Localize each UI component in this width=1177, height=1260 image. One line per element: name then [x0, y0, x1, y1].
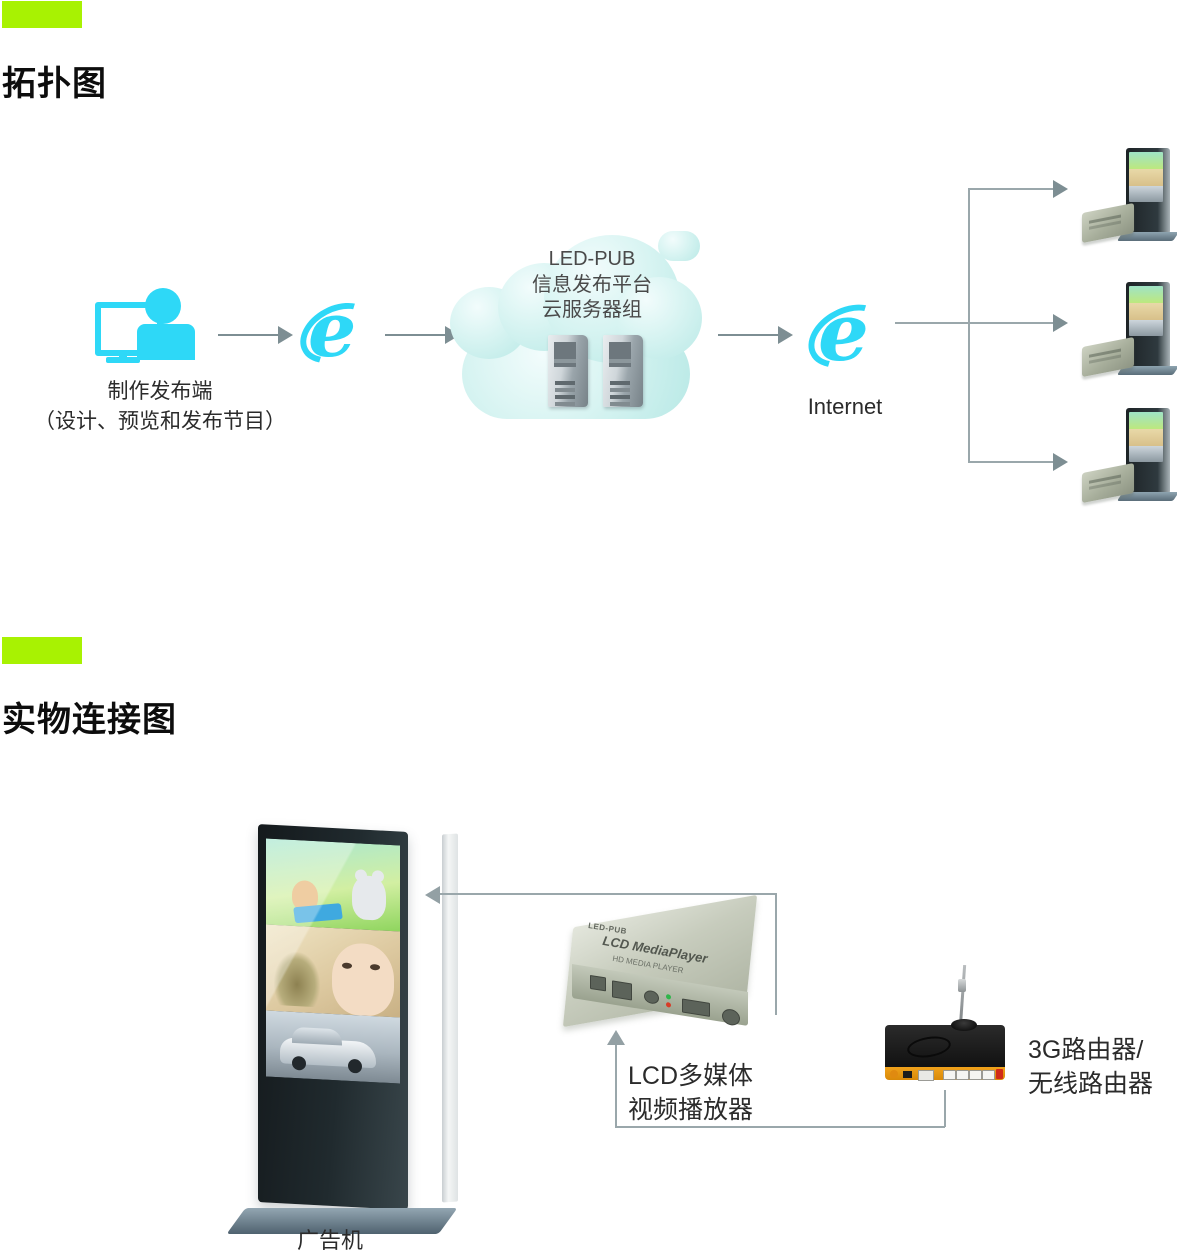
kiosk-panel-sports-car	[266, 1010, 400, 1083]
internet-explorer-icon-left: e	[300, 296, 370, 368]
connector-player-video-horizontal	[440, 893, 777, 895]
arrow-branch-1	[1053, 180, 1068, 198]
wireless-router	[885, 1025, 1025, 1095]
section-accent-bar-topology	[2, 1, 82, 28]
router-label-line1: 3G路由器/	[1028, 1034, 1143, 1068]
router-antenna-joint	[958, 979, 966, 992]
server-rack-2	[603, 335, 643, 407]
signage-screen-1	[1129, 152, 1163, 202]
cloud-label-line2: 信息发布平台	[522, 273, 662, 299]
router-lan-port-2	[956, 1070, 969, 1080]
person-body-icon	[137, 324, 195, 360]
router-label-line2: 无线路由器	[1028, 1068, 1153, 1102]
internet-explorer-icon-right: e	[808, 296, 884, 372]
connector-vertical-trunk	[968, 188, 970, 462]
connector-browser-to-cloud	[385, 334, 447, 336]
connector-player-video-vertical	[775, 893, 777, 1015]
signage-panel-b-2	[1129, 303, 1163, 320]
router-antenna-connector	[890, 1070, 898, 1078]
signage-panel-b-3	[1129, 429, 1163, 446]
player-port-rj45-a	[590, 975, 606, 992]
monitor-foot	[106, 357, 140, 363]
signage-panel-b-1	[1129, 169, 1163, 186]
cloud-label-line1: LED-PUB	[522, 247, 662, 273]
connector-router-horizontal	[615, 1126, 945, 1128]
connector-internet-trunk	[895, 322, 970, 324]
router-wan-port	[982, 1070, 995, 1080]
router-cable-coil	[906, 1034, 953, 1061]
router-usb-port	[903, 1071, 912, 1078]
signage-panel-c-2	[1129, 320, 1163, 336]
signage-screen-2	[1129, 286, 1163, 336]
connector-router-vertical	[944, 1090, 946, 1127]
section-title-physical: 实物连接图	[2, 692, 177, 741]
kiosk-panel-cartoon-animals	[266, 838, 400, 931]
router-sim-slot	[918, 1070, 934, 1081]
signage-panel-a-1	[1129, 152, 1163, 169]
portrait-face	[332, 942, 394, 1017]
arrow-branch-3	[1053, 453, 1068, 471]
player-label-line2: 视频播放器	[628, 1094, 753, 1128]
router-front-panel	[885, 1067, 1005, 1080]
internet-label: Internet	[780, 392, 910, 422]
publisher-workstation-icon	[95, 288, 210, 360]
kiosk-body	[258, 824, 408, 1210]
player-port-av	[644, 989, 659, 1004]
arrow-router-to-player	[607, 1030, 625, 1045]
router-reset-button[interactable]	[996, 1069, 1003, 1079]
kiosk-panel-portrait-woman	[266, 924, 400, 1017]
player-port-rj45-b	[612, 980, 632, 1000]
player-led-power	[666, 994, 671, 1000]
arrow-player-to-kiosk	[425, 886, 440, 904]
person-head-icon	[145, 288, 181, 324]
signage-panel-a-3	[1129, 412, 1163, 429]
arrow-publisher-to-browser	[278, 326, 293, 344]
arrow-branch-2	[1053, 314, 1068, 332]
player-port-power	[722, 1008, 740, 1027]
connector-publisher-to-browser	[218, 334, 280, 336]
signage-screen-3	[1129, 412, 1163, 462]
router-antenna-base	[951, 1019, 977, 1031]
connector-router-to-player-vertical	[615, 1045, 617, 1127]
lcd-media-player: LED-PUB LCD MediaPlayer HD MEDIA PLAYER	[568, 912, 778, 1032]
section-accent-bar-physical	[2, 637, 82, 664]
connector-branch-1	[968, 188, 1058, 190]
kiosk-screen	[266, 838, 400, 1083]
player-label-line1: LCD多媒体	[628, 1060, 753, 1094]
sports-car	[280, 1037, 376, 1068]
player-port-usb	[682, 998, 710, 1016]
connector-cloud-to-internet	[718, 334, 780, 336]
kiosk-side-panel	[442, 834, 458, 1203]
publisher-label-line1: 制作发布端	[0, 378, 320, 406]
cloud-puff-small-detached	[658, 231, 700, 261]
cloud-server-group: LED-PUB 信息发布平台 云服务器组	[440, 225, 730, 395]
arrow-cloud-to-internet	[778, 326, 793, 344]
publisher-label-line2: （设计、预览和发布节目）	[0, 408, 320, 436]
router-antenna	[959, 965, 966, 1027]
signage-panel-c-3	[1129, 446, 1163, 462]
cartoon-cart	[293, 903, 343, 923]
kiosk-label: 广告机	[240, 1226, 420, 1256]
section-title-topology: 拓扑图	[2, 56, 107, 105]
router-lan-port-3	[969, 1070, 982, 1080]
signage-panel-a-2	[1129, 286, 1163, 303]
signage-panel-c-1	[1129, 186, 1163, 202]
ink-painting-backdrop	[274, 951, 320, 1007]
connector-branch-2	[968, 322, 1058, 324]
cloud-label-block: LED-PUB 信息发布平台 云服务器组	[522, 247, 662, 324]
server-rack-1	[548, 335, 588, 407]
connector-branch-3	[968, 461, 1058, 463]
router-lan-port-1	[943, 1070, 956, 1080]
player-led-status	[666, 1002, 671, 1008]
cloud-label-line3: 云服务器组	[522, 298, 662, 324]
router-shell	[885, 1025, 1005, 1067]
cartoon-bear	[352, 875, 386, 921]
